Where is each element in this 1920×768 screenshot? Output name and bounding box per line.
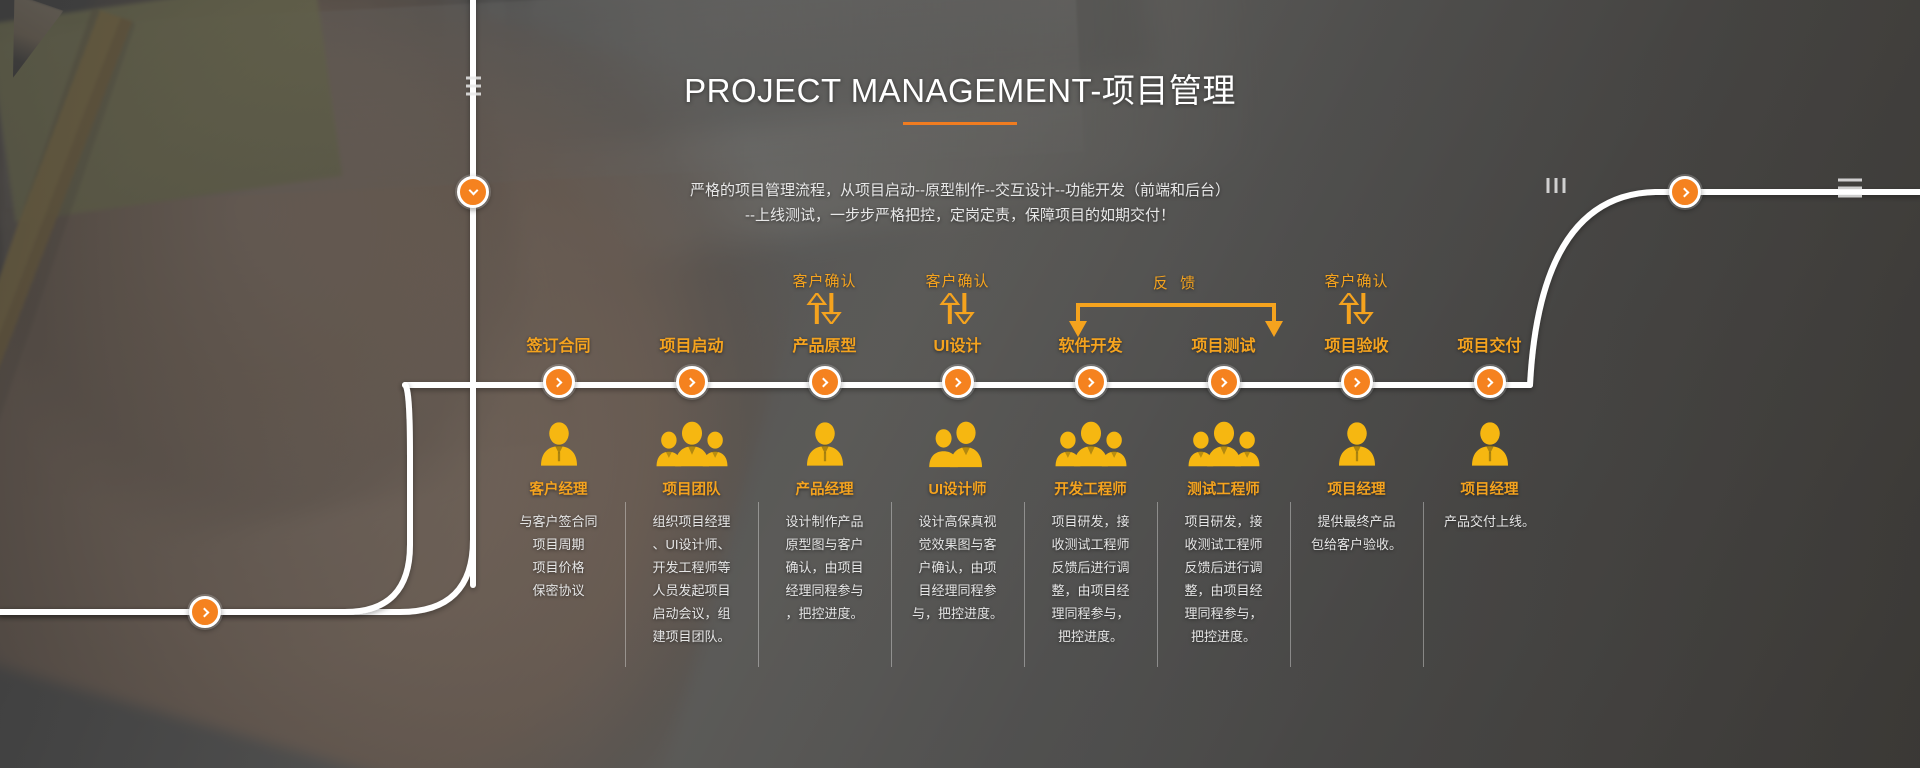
description-line: 产品交付上线。 bbox=[1437, 510, 1542, 533]
step-node-5[interactable] bbox=[1075, 366, 1107, 398]
step-description: 项目研发，接收测试工程师反馈后进行调整，由项目经理同程参与，把控进度。 bbox=[1171, 510, 1276, 648]
description-line: 反馈后进行调 bbox=[1038, 556, 1143, 579]
description-line: 目经理同程参 bbox=[905, 579, 1010, 602]
description-line: 、UI设计师、 bbox=[639, 533, 744, 556]
description-line: 经理同程参与 bbox=[772, 579, 877, 602]
step-column-4[interactable]: 客户确认UI设计UI设计师设计高保真视觉效果图与客户确认，由项目经理同程参与，把… bbox=[891, 270, 1024, 700]
title-underline bbox=[903, 122, 1017, 125]
step-description: 项目研发，接收测试工程师反馈后进行调整，由项目经理同程参与，把控进度。 bbox=[1038, 510, 1143, 648]
chevron-right-icon bbox=[1679, 187, 1689, 197]
description-line: 收测试工程师 bbox=[1038, 533, 1143, 556]
project-steps: 签订合同客户经理与客户签合同项目周期项目价格保密协议项目启动项目团队组织项目经理… bbox=[492, 270, 1556, 700]
person-group-icon bbox=[1024, 416, 1157, 474]
customer-confirm-label: 客户确认 bbox=[758, 270, 891, 291]
step-column-8[interactable]: 项目交付项目经理产品交付上线。 bbox=[1423, 270, 1556, 700]
description-line: 确认，由项目 bbox=[772, 556, 877, 579]
column-divider bbox=[1157, 502, 1158, 667]
path-segment-left-bottom bbox=[0, 540, 473, 612]
step-role: 客户经理 bbox=[492, 478, 625, 499]
description-line: 原型图与客户 bbox=[772, 533, 877, 556]
step-name: 项目验收 bbox=[1290, 332, 1423, 356]
step-role: 测试工程师 bbox=[1157, 478, 1290, 499]
description-line: 包给客户验收。 bbox=[1304, 533, 1409, 556]
step-node-4[interactable] bbox=[942, 366, 974, 398]
person-single-icon bbox=[1290, 416, 1423, 474]
step-description: 设计制作产品原型图与客户确认，由项目经理同程参与，把控进度。 bbox=[772, 510, 877, 625]
description-line: 建项目团队。 bbox=[639, 625, 744, 648]
description-line: 反馈后进行调 bbox=[1171, 556, 1276, 579]
chevron-right-icon bbox=[1484, 377, 1494, 387]
customer-confirm-annotation: 客户确认 bbox=[1290, 270, 1423, 330]
path-segment-left-sweep bbox=[0, 385, 410, 612]
column-divider bbox=[1290, 502, 1291, 667]
description-line: 整，由项目经 bbox=[1038, 579, 1143, 602]
step-description: 提供最终产品包给客户验收。 bbox=[1304, 510, 1409, 556]
step-node-1[interactable] bbox=[543, 366, 575, 398]
customer-confirm-label: 客户确认 bbox=[1290, 270, 1423, 291]
path-segment-left-elbow bbox=[405, 385, 473, 460]
chevron-right-icon bbox=[199, 607, 209, 617]
page-title: PROJECT MANAGEMENT-项目管理 bbox=[0, 64, 1920, 112]
description-line: 整，由项目经 bbox=[1171, 579, 1276, 602]
step-description: 组织项目经理、UI设计师、开发工程师等人员发起项目启动会议，组建项目团队。 bbox=[639, 510, 744, 648]
chevron-down-icon bbox=[468, 186, 478, 196]
description-line: 项目研发，接 bbox=[1171, 510, 1276, 533]
up-down-arrow-icon bbox=[891, 293, 1024, 325]
step-column-5[interactable]: 软件开发开发工程师项目研发，接收测试工程师反馈后进行调整，由项目经理同程参与，把… bbox=[1024, 270, 1157, 700]
chevron-right-icon bbox=[1218, 377, 1228, 387]
person-group-icon bbox=[625, 416, 758, 474]
customer-confirm-annotation: 客户确认 bbox=[891, 270, 1024, 330]
step-role: 产品经理 bbox=[758, 478, 891, 499]
step-column-1[interactable]: 签订合同客户经理与客户签合同项目周期项目价格保密协议 bbox=[492, 270, 625, 700]
step-name: 软件开发 bbox=[1024, 332, 1157, 356]
step-name: 签订合同 bbox=[492, 332, 625, 356]
description-line: 项目价格 bbox=[506, 556, 611, 579]
customer-confirm-annotation: 客户确认 bbox=[758, 270, 891, 330]
step-role: 项目团队 bbox=[625, 478, 758, 499]
step-name: 项目测试 bbox=[1157, 332, 1290, 356]
description-line: 与客户签合同 bbox=[506, 510, 611, 533]
path-node-top-right[interactable] bbox=[1669, 176, 1701, 208]
person-single-icon bbox=[758, 416, 891, 474]
step-description: 产品交付上线。 bbox=[1437, 510, 1542, 533]
subtitle-line-1: 严格的项目管理流程，从项目启动--原型制作--交互设计--功能开发（前端和后台） bbox=[510, 178, 1410, 203]
path-segment-right-elbow bbox=[1530, 192, 1920, 385]
description-line: 理同程参与， bbox=[1171, 602, 1276, 625]
step-name: 产品原型 bbox=[758, 332, 891, 356]
step-column-2[interactable]: 项目启动项目团队组织项目经理、UI设计师、开发工程师等人员发起项目启动会议，组建… bbox=[625, 270, 758, 700]
step-node-2[interactable] bbox=[676, 366, 708, 398]
step-role: 开发工程师 bbox=[1024, 478, 1157, 499]
description-line: 组织项目经理 bbox=[639, 510, 744, 533]
column-divider bbox=[1423, 502, 1424, 667]
description-line: 把控进度。 bbox=[1038, 625, 1143, 648]
chevron-right-icon bbox=[553, 377, 563, 387]
description-line: 启动会议，组 bbox=[639, 602, 744, 625]
chevron-right-icon bbox=[819, 377, 829, 387]
step-node-3[interactable] bbox=[809, 366, 841, 398]
person-single-icon bbox=[492, 416, 625, 474]
description-line: 理同程参与， bbox=[1038, 602, 1143, 625]
column-divider bbox=[758, 502, 759, 667]
step-column-3[interactable]: 客户确认产品原型产品经理设计制作产品原型图与客户确认，由项目经理同程参与，把控进… bbox=[758, 270, 891, 700]
description-line: 设计高保真视 bbox=[905, 510, 1010, 533]
person-single-icon bbox=[1423, 416, 1556, 474]
chevron-right-icon bbox=[952, 377, 962, 387]
column-divider bbox=[625, 502, 626, 667]
step-description: 设计高保真视觉效果图与客户确认，由项目经理同程参与，把控进度。 bbox=[905, 510, 1010, 625]
step-role: 项目经理 bbox=[1423, 478, 1556, 499]
step-name: 项目启动 bbox=[625, 332, 758, 356]
description-line: 人员发起项目 bbox=[639, 579, 744, 602]
column-divider bbox=[1024, 502, 1025, 667]
description-line: 提供最终产品 bbox=[1304, 510, 1409, 533]
person-group-icon bbox=[1157, 416, 1290, 474]
chevron-right-icon bbox=[1351, 377, 1361, 387]
step-node-8[interactable] bbox=[1474, 366, 1506, 398]
description-line: ，把控进度。 bbox=[772, 602, 877, 625]
step-node-6[interactable] bbox=[1208, 366, 1240, 398]
page-subtitle: 严格的项目管理流程，从项目启动--原型制作--交互设计--功能开发（前端和后台）… bbox=[510, 178, 1410, 228]
customer-confirm-label: 客户确认 bbox=[891, 270, 1024, 291]
step-column-6[interactable]: 项目测试测试工程师项目研发，接收测试工程师反馈后进行调整，由项目经理同程参与，把… bbox=[1157, 270, 1290, 700]
person-pair-icon bbox=[891, 416, 1024, 474]
description-line: 觉效果图与客 bbox=[905, 533, 1010, 556]
description-line: 项目周期 bbox=[506, 533, 611, 556]
up-down-arrow-icon bbox=[1290, 293, 1423, 325]
description-line: 保密协议 bbox=[506, 579, 611, 602]
chevron-right-icon bbox=[686, 377, 696, 387]
column-divider bbox=[891, 502, 892, 667]
chevron-right-icon bbox=[1085, 377, 1095, 387]
step-role: 项目经理 bbox=[1290, 478, 1423, 499]
step-node-7[interactable] bbox=[1341, 366, 1373, 398]
step-name: UI设计 bbox=[891, 332, 1024, 356]
step-description: 与客户签合同项目周期项目价格保密协议 bbox=[506, 510, 611, 602]
up-down-arrow-icon bbox=[758, 293, 891, 325]
description-line: 设计制作产品 bbox=[772, 510, 877, 533]
description-line: 把控进度。 bbox=[1171, 625, 1276, 648]
path-node-bottom-left[interactable] bbox=[189, 596, 221, 628]
step-name: 项目交付 bbox=[1423, 332, 1556, 356]
description-line: 与，把控进度。 bbox=[905, 602, 1010, 625]
path-node-top-left[interactable] bbox=[457, 176, 489, 208]
step-column-7[interactable]: 客户确认项目验收项目经理提供最终产品包给客户验收。 bbox=[1290, 270, 1423, 700]
description-line: 收测试工程师 bbox=[1171, 533, 1276, 556]
subtitle-line-2: --上线测试，一步步严格把控，定岗定责，保障项目的如期交付！ bbox=[510, 203, 1410, 228]
step-role: UI设计师 bbox=[891, 478, 1024, 499]
description-line: 开发工程师等 bbox=[639, 556, 744, 579]
description-line: 户确认，由项 bbox=[905, 556, 1010, 579]
description-line: 项目研发，接 bbox=[1038, 510, 1143, 533]
